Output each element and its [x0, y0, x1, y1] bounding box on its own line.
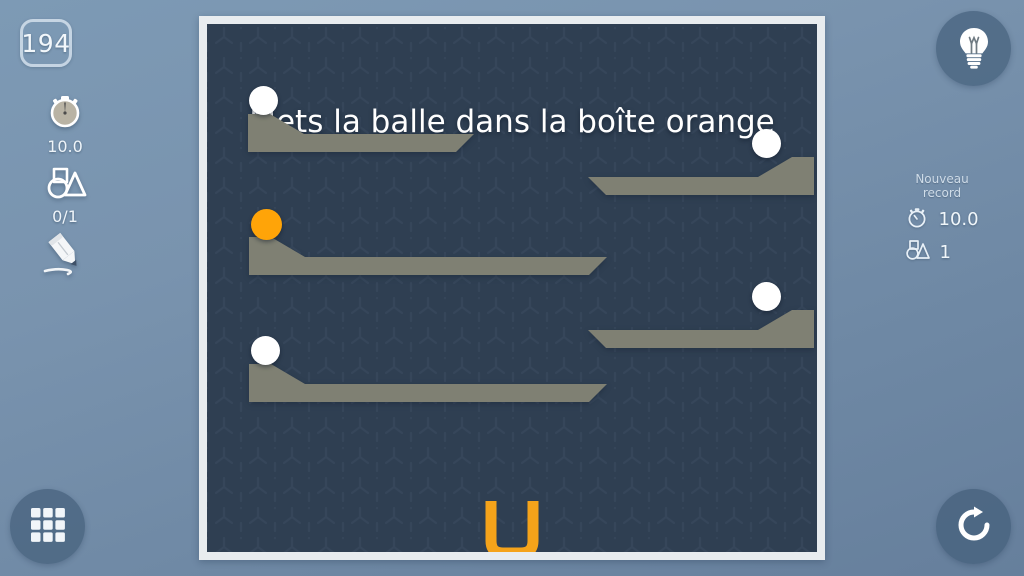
record-time-row: 10.0 — [860, 204, 1024, 234]
platform-mid-right — [588, 310, 814, 348]
goal-box-orange — [485, 501, 539, 552]
lightbulb-icon — [953, 24, 995, 74]
level-number: 194 — [21, 29, 70, 58]
ball-white-top-left[interactable] — [249, 86, 278, 115]
platform-top-left — [248, 114, 474, 152]
background-pattern — [207, 24, 817, 552]
record-title-line1: Nouveau — [860, 172, 1024, 186]
platform-top-right — [588, 157, 814, 195]
ball-white-top-right[interactable] — [752, 129, 781, 158]
ball-white-mid-right[interactable] — [752, 282, 781, 311]
record-shapes-value: 1 — [940, 242, 982, 263]
shapes-icon — [0, 162, 130, 206]
stopwatch-icon — [0, 88, 130, 136]
ball-orange-mid-left[interactable] — [251, 209, 282, 240]
right-hud-rail: Nouveau record 10.0 — [828, 0, 1024, 576]
timer-value: 10.0 — [0, 137, 130, 156]
timer-stat: 10.0 — [0, 88, 130, 156]
platform-bottom-left — [249, 364, 607, 402]
record-time-value: 10.0 — [939, 209, 981, 230]
menu-button[interactable] — [10, 489, 85, 564]
playfield[interactable]: Mets la balle dans la boîte orange — [207, 24, 817, 552]
playfield-frame: Mets la balle dans la boîte orange — [199, 16, 825, 560]
grid-menu-icon — [29, 506, 67, 548]
record-title-line2: record — [860, 186, 1024, 200]
shapes-icon — [903, 238, 931, 266]
shapes-stat: 0/1 — [0, 162, 130, 226]
platform-mid-left — [249, 237, 607, 275]
hint-button[interactable] — [936, 11, 1011, 86]
restart-icon — [954, 505, 994, 549]
ball-white-bottom-left[interactable] — [251, 336, 280, 365]
level-badge[interactable]: 194 — [20, 19, 72, 67]
pencil-draw-icon — [0, 232, 130, 282]
restart-button[interactable] — [936, 489, 1011, 564]
shapes-value: 0/1 — [0, 207, 130, 226]
stopwatch-icon — [904, 204, 930, 234]
left-hud-rail: 194 10.0 0/1 — [0, 0, 196, 576]
draw-tool-button[interactable] — [0, 232, 130, 282]
record-panel: Nouveau record 10.0 — [860, 172, 1024, 266]
record-shapes-row: 1 — [860, 238, 1024, 266]
